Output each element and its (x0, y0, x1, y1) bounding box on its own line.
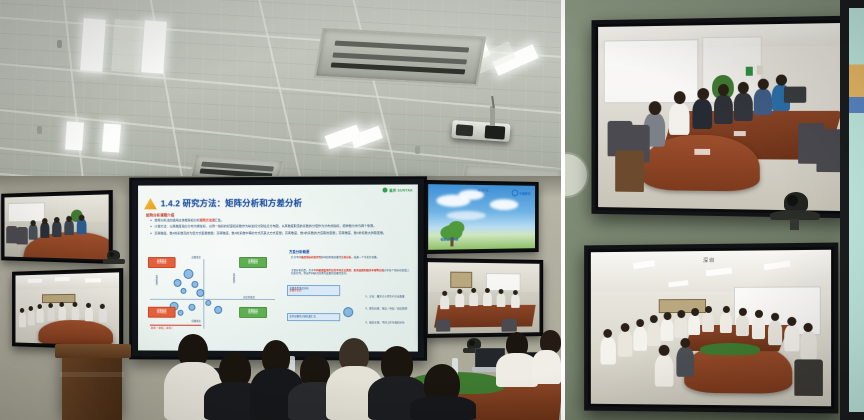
camera-base (103, 259, 125, 264)
feed-person (618, 331, 633, 357)
podium (62, 350, 122, 420)
lower-feed-content: 深圳 (591, 250, 831, 407)
photo-panel-remote-displays: 深圳 (565, 0, 864, 420)
right-note: 3、服务年限：不同工作年限的分布 (365, 321, 409, 324)
feed-person (655, 355, 674, 387)
feed-person (647, 323, 661, 346)
feed-person-head (48, 303, 53, 308)
feed-person (768, 321, 782, 345)
left-lower-content (16, 272, 120, 345)
feed-person (469, 292, 478, 306)
quadrant-label-bottom-left: 低重要度 低离散度 (148, 307, 176, 318)
feed-person-head (705, 306, 712, 313)
feed-person-head (621, 323, 630, 332)
feed-person (669, 103, 689, 135)
feed-person (674, 317, 687, 338)
remote-display-upper[interactable] (591, 16, 850, 219)
feed-person (47, 307, 54, 321)
feed-person-head (636, 319, 644, 327)
feed-wall-panel (757, 66, 763, 75)
slide-title-row: 1.4.2 研究方法：矩阵分析和方差分析 (144, 196, 302, 209)
feed-whiteboard (486, 273, 521, 291)
feed-person-head (664, 312, 672, 320)
side-display-sky[interactable]: 欢迎光临 中国移动 视频会议系统 (424, 180, 539, 254)
feed-table-paper (734, 131, 746, 136)
feed-person-head (776, 74, 787, 85)
camera-lens-icon (469, 340, 475, 346)
sprinkler-head (57, 40, 62, 48)
feed-person (77, 219, 87, 234)
feed-person (52, 221, 61, 237)
remote-feed: 深圳 (591, 250, 831, 407)
feed-person-head (680, 338, 690, 348)
sky-bottom-caption: 视频会议系统 (440, 237, 458, 241)
bullet-text: 计量方法：以离散度指分分布为横坐标，以同一指标的纪度和系数作为纵坐标分别绘点分布… (155, 225, 377, 229)
right-note: 2、职务层级：基层／中层／高层管理 (365, 307, 409, 310)
feed-person-head (697, 88, 709, 100)
feed-person-head (79, 215, 85, 221)
chart-axis-label-bottom: 低重要度 (191, 319, 200, 323)
feed-person-head (100, 304, 105, 309)
feed-person-head (42, 218, 47, 224)
feed-person-head (59, 302, 64, 307)
feed-person (600, 337, 615, 365)
remote-feed (16, 272, 120, 345)
slide-logo-text: 重庆 SUNTAK (389, 187, 413, 192)
slide-right-bullet: 针对不同维度指标的差异性影响因素做显著性方差分析，结果一个于差异显著。 (291, 256, 412, 259)
feed-table (38, 320, 113, 346)
side-display-remote-room[interactable] (424, 258, 543, 338)
edge-display-content (849, 8, 864, 412)
feed-wall-picture (450, 272, 472, 288)
bullet-marker-icon: ➤ (150, 226, 153, 230)
feed-person-head (804, 323, 813, 332)
feed-chair (436, 319, 450, 331)
flow-box: 变量类型维度分析显著性检验 (287, 285, 340, 296)
feed-person-head (457, 289, 462, 294)
feed-person-head (66, 216, 72, 222)
feed-person (455, 293, 464, 307)
feed-person (37, 308, 44, 323)
upper-feed-content (598, 23, 843, 211)
chart-bubble (205, 300, 211, 306)
slide-logo: 重庆 SUNTAK (382, 187, 413, 192)
feed-person-head (691, 308, 699, 316)
chart-bubble (343, 307, 353, 317)
feed-ceiling-light (55, 277, 70, 281)
bullet-text: 矩阵分析法的通用主体框架和分析矩阵方法流汇集。 (155, 219, 224, 223)
left-upper-content (5, 194, 109, 259)
photo-panel-main-room: 重庆 SUNTAK 1.4.2 研究方法：矩阵分析和方差分析 矩阵分析课题介绍 … (0, 0, 561, 420)
projector-mount (490, 106, 495, 126)
feed-person-head (499, 289, 504, 294)
feed-window (8, 202, 45, 222)
flow-box: 差异显著性分析结果汇总 (287, 313, 340, 321)
podium-top (55, 344, 131, 358)
ptz-camera (770, 192, 822, 230)
feed-person-head (485, 288, 490, 293)
tree-canopy (448, 221, 464, 234)
feed-person (497, 293, 506, 307)
remote-feed (5, 194, 109, 259)
feed-person (99, 308, 107, 323)
feed-chair (502, 319, 517, 332)
chart-bubble (188, 304, 195, 311)
remote-feed (428, 262, 540, 334)
feed-person-head (755, 310, 763, 318)
podium-band (60, 372, 124, 377)
feed-person-head (603, 329, 612, 338)
feed-person (734, 93, 753, 121)
feed-person-head (30, 220, 35, 226)
feed-person-head (787, 317, 796, 326)
sky-screen-content: 欢迎光临 中国移动 视频会议系统 (428, 184, 535, 250)
feed-person-head (718, 84, 729, 96)
feed-person (483, 292, 492, 306)
feed-person-head (649, 101, 662, 115)
feed-ceiling-light (28, 279, 42, 283)
feed-table-plants (700, 343, 760, 355)
feed-person-head (674, 91, 686, 104)
feed-person-head (86, 303, 91, 308)
ceiling-light (102, 123, 121, 152)
feed-person-head (677, 310, 685, 318)
quadrant-label-top-right: 高重要度 高离散度 (239, 257, 267, 268)
feed-person-head (513, 290, 518, 295)
cloud-shape (490, 199, 519, 210)
feed-person-head (442, 291, 447, 296)
bullet-marker-icon: ➤ (150, 219, 153, 223)
feed-person (64, 220, 74, 235)
list-item: ➤ 高离散度、数4的系数高的为低方式变量数量；高离散度、数4的系数中等的方式高其… (150, 231, 412, 235)
ac-vent (314, 28, 487, 86)
sky-top-caption: 欢迎光临 (478, 188, 489, 192)
quadrant-chart: 高重要度 低重要度 高度离散度 低离散度 高离散度 高重要度 低离散度 (148, 257, 279, 331)
bullet-marker-icon: ➤ (150, 232, 153, 236)
feed-person (28, 310, 35, 326)
chart-bubble (174, 279, 182, 287)
audience-body (532, 350, 561, 384)
feed-person-head (738, 82, 749, 94)
chart-bubble (191, 281, 198, 288)
feed-wall-banner (42, 294, 75, 303)
audience-body (410, 396, 476, 420)
feed-wall (428, 262, 540, 292)
feed-person-head (54, 217, 60, 223)
chart-side-label-right: 高离散度 (231, 273, 235, 283)
sprinkler-head (415, 146, 420, 154)
slide-title: 1.4.2 研究方法：矩阵分析和方差分析 (161, 196, 302, 208)
feed-person (19, 312, 26, 327)
quadrant-label-bottom-right: 低重要度 高离散度 (239, 307, 267, 318)
cloud-shape (446, 211, 485, 220)
feed-person (661, 319, 674, 341)
feed-person (692, 99, 712, 129)
feed-person-head (659, 345, 670, 356)
feed-person (29, 224, 38, 240)
feed-person (754, 89, 772, 115)
slide-bullet-list: ➤ 矩阵分析法的通用主体框架和分析矩阵方法流汇集。 ➤ 计量方法：以离散度指分分… (150, 219, 412, 238)
sky-logo: 中国移动 (512, 189, 531, 196)
chart-bubble (178, 310, 184, 316)
feed-person (714, 95, 733, 124)
feed-monitor (784, 87, 806, 103)
feed-table-paper (694, 149, 710, 155)
feed-person (752, 317, 765, 339)
list-item: ➤ 计量方法：以离散度指分分布为横坐标，以同一指标的纪度和系数作为纵坐标分别绘点… (150, 225, 412, 229)
chart-bubble (214, 306, 222, 314)
feed-chair (16, 227, 27, 245)
chart-footer: 象限一 象限二 象限三 (151, 326, 174, 330)
remote-room-content (428, 262, 540, 334)
feed-person-head (471, 288, 476, 293)
sky-logo-text: 中国移动 (519, 191, 530, 195)
feed-person (440, 295, 449, 309)
chart-side-label-left: 低离散度 (154, 275, 158, 285)
presentation-slide: 重庆 SUNTAK 1.4.2 研究方法：矩阵分析和方差分析 矩阵分析课题介绍 … (138, 184, 418, 351)
edge-display-partial[interactable] (840, 0, 864, 420)
feed-person (736, 315, 749, 336)
remote-site-label: 深圳 (703, 257, 715, 264)
left-display-upper[interactable] (1, 190, 113, 264)
feed-person-head (650, 315, 658, 323)
feed-wall-panel (746, 67, 753, 76)
remote-feed (598, 23, 843, 211)
feed-chair (794, 359, 823, 396)
ceiling-light (65, 121, 84, 150)
bullet-text: 高离散度、数4的系数高的为低方式变量数量；高离散度、数4的系数中等的方式高其大方… (155, 231, 387, 235)
chart-axis-label-right: 高度离散度 (243, 295, 255, 299)
chart-bubble (183, 269, 193, 279)
feed-person-head (29, 306, 33, 311)
chart-bubble (196, 289, 204, 297)
ceiling-light (111, 19, 143, 73)
logo-ring-icon (512, 189, 519, 196)
ceiling (0, 0, 561, 184)
feed-person-head (723, 306, 730, 313)
right-note: 1、企业：重复大小型生产企业数量 (365, 295, 409, 298)
logo-mark-icon (382, 188, 387, 193)
remote-display-lower[interactable]: 深圳 (584, 243, 838, 414)
feed-person (85, 307, 93, 321)
feed-person-head (739, 308, 747, 316)
feed-person-head (73, 302, 78, 307)
chart-bubble (181, 288, 187, 294)
feed-person-head (37, 304, 41, 309)
feed-person (72, 306, 80, 320)
feed-person (784, 325, 799, 351)
feed-person (720, 313, 732, 333)
main-projection-screen[interactable]: 重庆 SUNTAK 1.4.2 研究方法：矩阵分析和方差分析 矩阵分析课题介绍 … (129, 176, 427, 360)
quadrant-label-top-left: 高重要度 低离散度 (148, 257, 176, 268)
feed-person-head (20, 308, 24, 313)
ceiling-light (80, 18, 106, 71)
camera-lens-icon (787, 195, 798, 206)
chart-axis-label-top: 高重要度 (191, 255, 200, 259)
feed-person (633, 327, 647, 351)
screenshot-root: 重庆 SUNTAK 1.4.2 研究方法：矩阵分析和方差分析 矩阵分析课题介绍 … (0, 0, 864, 420)
feed-person (676, 347, 694, 377)
sprinkler-head (37, 126, 42, 134)
slide-right-bullet: 主要分析的是，关于不同被调查者所在的不同企业类型、职务层级和服务年限等方面对于各… (291, 269, 412, 276)
feed-person (800, 331, 816, 359)
list-item: ➤ 矩阵分析法的通用主体框架和分析矩阵方法流汇集。 (150, 219, 412, 223)
left-display-lower[interactable] (12, 268, 123, 350)
slide-mid-heading: 方差分析概要 (289, 249, 309, 254)
feed-person-head (758, 79, 769, 90)
feed-person (511, 294, 520, 308)
feed-chair (615, 150, 644, 192)
feed-ceiling-light (85, 278, 101, 282)
ptz-camera (103, 250, 127, 268)
feed-person (40, 222, 49, 238)
camera-lens-icon (109, 252, 114, 257)
ceiling-light (141, 20, 167, 73)
camera-arm (790, 219, 799, 230)
chart-x-axis (150, 299, 275, 300)
feed-person (58, 306, 65, 320)
feed-person-head (771, 313, 779, 321)
feed-person (688, 315, 700, 335)
feed-person (702, 313, 714, 332)
slide-badge-icon (144, 196, 157, 209)
